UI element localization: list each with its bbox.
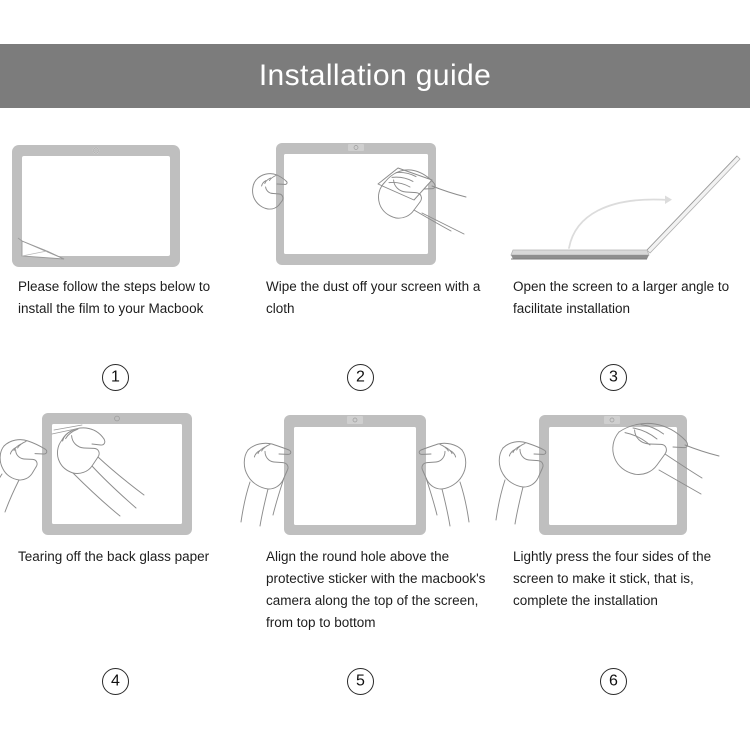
- hand-wiping-screen-with-cloth-icon: [246, 138, 496, 268]
- step-badge-3: 3: [600, 364, 627, 391]
- macbook-screen-with-peeling-film-corner-icon: [0, 138, 250, 268]
- step-2: Wipe the dust off your screen with a clo…: [246, 138, 496, 320]
- two-hands-tearing-back-paper-icon: [0, 408, 250, 538]
- step-6-illustration: [497, 408, 747, 538]
- installation-guide-page: Installation guide: [0, 0, 750, 750]
- page-title: Installation guide: [259, 61, 491, 91]
- step-3-caption: Open the screen to a larger angle to fac…: [497, 276, 747, 320]
- step-badge-1: 1: [102, 364, 129, 391]
- hand-pressing-film-onto-screen-icon: [497, 408, 747, 538]
- step-1-illustration: [0, 138, 250, 268]
- step-4-caption: Tearing off the back glass paper: [0, 546, 250, 568]
- step-badge-3-number: 3: [609, 369, 618, 385]
- step-6-caption: Lightly press the four sides of the scre…: [497, 546, 747, 612]
- steps-grid: Please follow the steps below to install…: [0, 108, 750, 750]
- step-4-illustration: [0, 408, 250, 538]
- step-badge-4-number: 4: [111, 673, 120, 689]
- step-badge-4: 4: [102, 668, 129, 695]
- step-badge-2: 2: [347, 364, 374, 391]
- step-badge-1-number: 1: [111, 369, 120, 385]
- header-bar: Installation guide: [0, 44, 750, 108]
- step-5: Align the round hole above the protectiv…: [246, 408, 496, 633]
- step-badge-6: 6: [600, 668, 627, 695]
- step-badge-5: 5: [347, 668, 374, 695]
- step-5-illustration: [246, 408, 496, 538]
- step-1-caption: Please follow the steps below to install…: [0, 276, 250, 320]
- step-badge-6-number: 6: [609, 673, 618, 689]
- step-6: Lightly press the four sides of the scre…: [497, 408, 747, 612]
- step-1: Please follow the steps below to install…: [0, 138, 250, 320]
- two-hands-aligning-film-top-edge-icon: [246, 408, 496, 538]
- step-4: Tearing off the back glass paper: [0, 408, 250, 568]
- laptop-side-view-opening-screen-icon: [497, 138, 747, 268]
- step-2-caption: Wipe the dust off your screen with a clo…: [246, 276, 496, 320]
- step-badge-2-number: 2: [356, 369, 365, 385]
- step-2-illustration: [246, 138, 496, 268]
- step-3: Open the screen to a larger angle to fac…: [497, 138, 747, 320]
- step-3-illustration: [497, 138, 747, 268]
- step-badge-5-number: 5: [356, 673, 365, 689]
- step-5-caption: Align the round hole above the protectiv…: [246, 546, 496, 633]
